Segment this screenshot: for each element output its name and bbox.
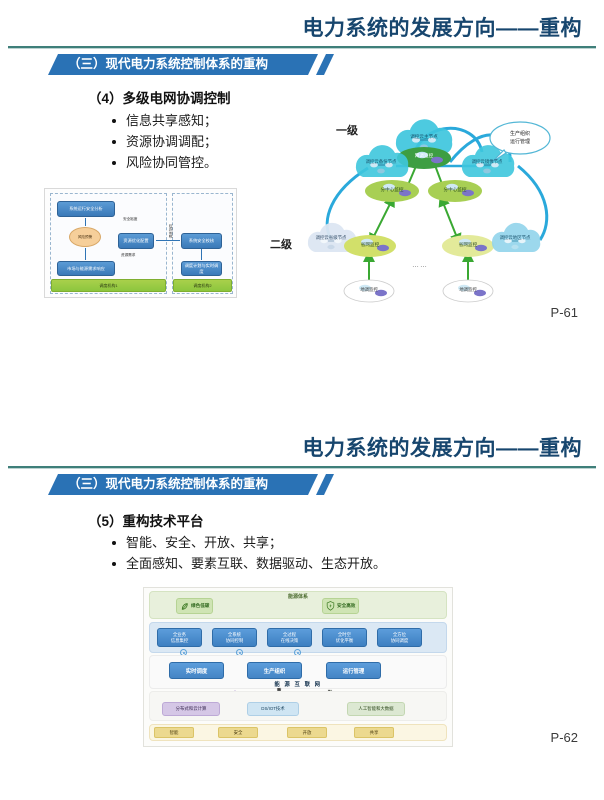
flow-arrow-down-3 — [201, 249, 202, 260]
cloud-label-lower-left: 调控云省级节点 — [316, 234, 347, 241]
title-divider — [8, 46, 596, 48]
capability-label: 全方位 协同调度 — [391, 632, 409, 643]
network-diagram: 调控云主节点 网调监控 调控云备份节点 调控云镜像节点 分中心监控 分中心监控 … — [300, 100, 570, 305]
list-item: 风险协同管控。 — [112, 152, 217, 173]
tier-label-2: 二级 — [270, 236, 292, 252]
flow-diagram: 系统运行安全分析 风险预警 资源优化配置 市场与能源需求响应 系统安全校核 调度… — [44, 188, 237, 298]
flow-box-resource-allocation: 资源优化配置 — [118, 233, 154, 249]
sub-heading: （5）重构技术平台 — [88, 510, 204, 530]
chip-green-low-carbon: 绿色低碳 — [176, 598, 213, 614]
ellipsis-label: …… — [412, 262, 428, 269]
bottom-tab-1: 智能 — [154, 727, 194, 738]
chip-label: 安全高效 — [337, 603, 355, 609]
flow-arrow-down-2 — [85, 248, 86, 260]
flow-edge-label-2: 资源需求 — [121, 253, 135, 257]
cloud-label-lower-right: 调控云地区节点 — [500, 234, 531, 241]
flow-green-band-1: 调度机构1 — [51, 279, 166, 292]
page-title: 电力系统的发展方向——重构 — [303, 12, 583, 42]
flow-oval-risk: 风险预警 — [69, 227, 101, 247]
tier-label-1: 一级 — [336, 122, 358, 138]
flow-arrow-right-1 — [156, 240, 180, 241]
flow-arrow-down-1 — [85, 218, 86, 226]
tech-box-2: DS/IOT技术 — [247, 702, 299, 716]
capability-box-3: 全过程 在线决策 — [267, 628, 312, 647]
list-item: 全面感知、要素互联、数据驱动、生态开放。 — [112, 553, 386, 574]
sub-heading: （4）多级电网协调控制 — [88, 87, 231, 107]
section-banner: （三）现代电力系统控制体系的重构 — [48, 474, 318, 495]
shield-icon — [326, 601, 335, 611]
page-number: P-62 — [551, 730, 578, 745]
page-title: 电力系统的发展方向——重构 — [303, 432, 583, 462]
slide-1: 电力系统的发展方向——重构 （三）现代电力系统控制体系的重构 （4）多级电网协调… — [0, 0, 604, 400]
chip-label: 绿色低碳 — [191, 603, 209, 609]
section-banner-tail — [316, 474, 334, 495]
flow-edge-label-1: 安全裕度 — [123, 217, 137, 221]
flow-box-dispatch-plan: 调度计划与实时调度 — [181, 261, 222, 276]
section-banner-tail — [316, 54, 334, 75]
callout-line-2: 运行管理 — [510, 138, 530, 145]
ellipse-label-network-monitor: 网调监控 — [415, 152, 434, 159]
capability-box-2: 全系统 协同控制 — [212, 628, 257, 647]
leaf-icon — [180, 602, 189, 611]
cloud-label-left: 调控云备份节点 — [366, 158, 397, 165]
list-item: 信息共享感知； — [112, 110, 217, 131]
cloud-label-right: 调控云镜像节点 — [472, 158, 503, 165]
ellipse-label-branch-left: 分中心监控 — [381, 186, 404, 193]
bullet-list: 信息共享感知； 资源协调调配； 风险协同管控。 — [112, 110, 217, 173]
flow-box-security-check: 系统安全校核 — [181, 233, 222, 249]
list-item: 资源协调调配； — [112, 131, 217, 152]
capability-label: 全过程 在线决策 — [281, 632, 299, 643]
capability-label: 全业务 信息集控 — [171, 632, 189, 643]
flow-box-system-analysis: 系统运行安全分析 — [57, 201, 115, 217]
bottom-tab-2: 安全 — [218, 727, 258, 738]
tech-box-3: 人工智能和大数据 — [347, 702, 405, 716]
function-box-1: 实时调度 — [169, 662, 224, 679]
title-divider — [8, 466, 596, 468]
capability-box-1: 全业务 信息集控 — [157, 628, 202, 647]
bottom-tab-3: 开放 — [287, 727, 327, 738]
flow-green-band-2: 调度机构2 — [173, 279, 232, 292]
tech-box-1: 分布式和云计算 — [162, 702, 220, 716]
ellipse-label-provincial-left: 省网监控 — [361, 241, 380, 248]
bottom-tab-4: 共享 — [354, 727, 394, 738]
capability-box-5: 全方位 协同调度 — [377, 628, 422, 647]
cloud-label-main: 调控云主节点 — [410, 133, 438, 140]
list-item: 智能、安全、开放、共享； — [112, 532, 386, 553]
flow-edge-label-3: 调度协同 — [169, 224, 173, 238]
bullet-list: 智能、安全、开放、共享； 全面感知、要素互联、数据驱动、生态开放。 — [112, 532, 386, 574]
architecture-diagram: 能源体系 绿色低碳 安全高效 全业务 信息集控 全系统 协同控制 全过程 在线决… — [143, 587, 453, 747]
page-number: P-61 — [551, 305, 578, 320]
chip-safe-efficient: 安全高效 — [322, 598, 359, 614]
capability-label: 全系统 协同控制 — [226, 632, 244, 643]
section-banner: （三）现代电力系统控制体系的重构 — [48, 54, 318, 75]
callout-line-1: 生产组织 — [510, 130, 530, 137]
function-box-3: 运行管理 — [326, 662, 381, 679]
capability-box-4: 全时空 优化平衡 — [322, 628, 367, 647]
ellipse-label-city-right: 地调监控 — [459, 286, 477, 293]
flow-box-market-demand: 市场与能源需求响应 — [57, 261, 115, 276]
ellipse-label-provincial-right: 省网监控 — [459, 241, 478, 248]
capability-label: 全时空 优化平衡 — [336, 632, 354, 643]
ellipse-label-city-left: 地调监控 — [360, 286, 378, 293]
ellipse-label-branch-right: 分中心监控 — [444, 186, 467, 193]
energy-internet-label: 能 源 互 联 网 — [144, 680, 452, 688]
function-box-2: 生产组织 — [247, 662, 302, 679]
